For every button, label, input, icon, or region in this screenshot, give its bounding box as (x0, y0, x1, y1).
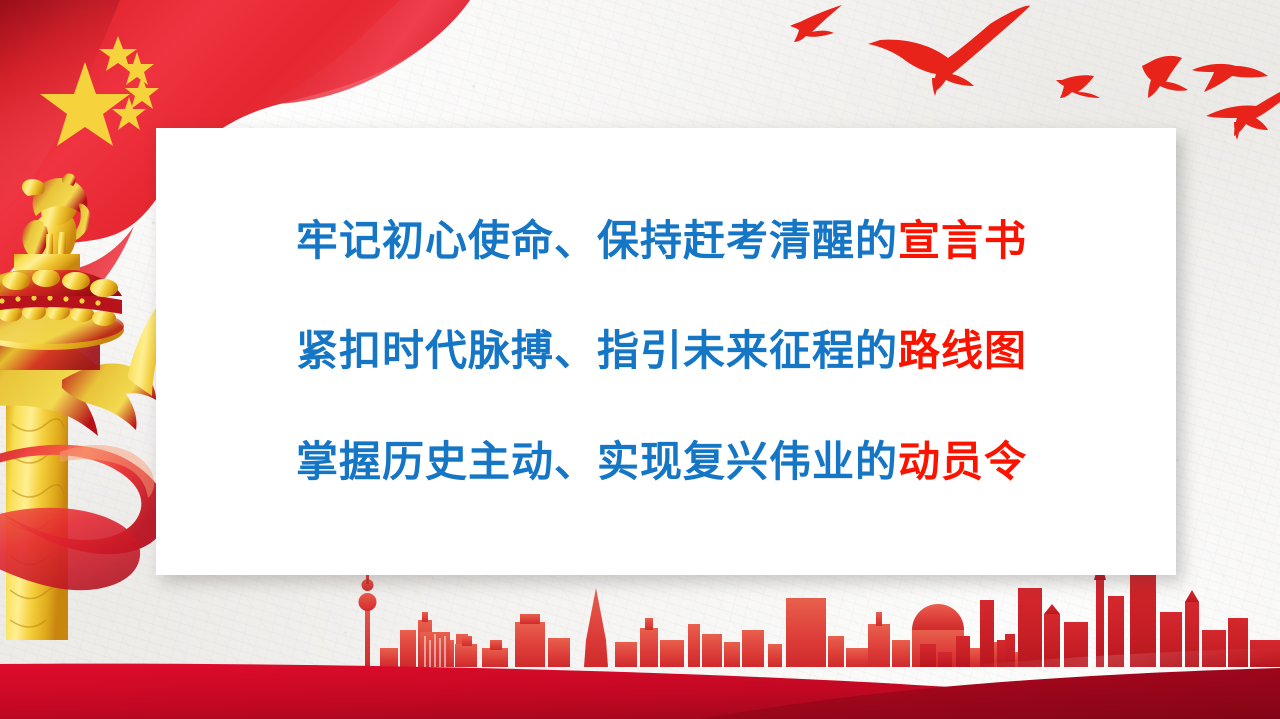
headline-row-2: 紧扣时代脉搏、指引未来征程的路线图 (296, 329, 1176, 373)
headline-2-red-text: 路线图 (898, 326, 1027, 375)
headline-list: 牢记初心使命、保持赶考清醒的宣言书 紧扣时代脉搏、指引未来征程的路线图 掌握历史… (156, 128, 1176, 575)
content-card: 牢记初心使命、保持赶考清醒的宣言书 紧扣时代脉搏、指引未来征程的路线图 掌握历史… (156, 128, 1176, 575)
headline-3-blue-text: 掌握历史主动、实现复兴伟业的 (296, 437, 898, 486)
slide-root: 牢记初心使命、保持赶考清醒的宣言书 紧扣时代脉搏、指引未来征程的路线图 掌握历史… (0, 0, 1280, 719)
headline-1-red-text: 宣言书 (898, 216, 1027, 265)
headline-3-red-text: 动员令 (898, 437, 1027, 486)
headline-row-1: 牢记初心使命、保持赶考清醒的宣言书 (296, 219, 1176, 263)
headline-row-3: 掌握历史主动、实现复兴伟业的动员令 (296, 440, 1176, 484)
headline-1-blue-text: 牢记初心使命、保持赶考清醒的 (296, 216, 898, 265)
headline-2-blue-text: 紧扣时代脉搏、指引未来征程的 (296, 326, 898, 375)
